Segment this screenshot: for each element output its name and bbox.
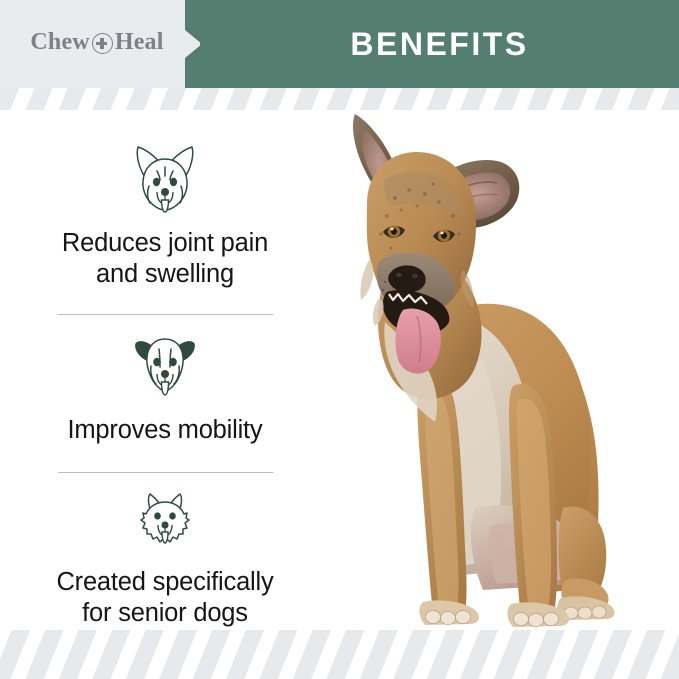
benefit-label-1: Reduces joint pain and swelling [0, 216, 330, 291]
circled-plus-icon [92, 33, 113, 54]
benefit-item-1: Reduces joint pain and swelling [0, 120, 330, 315]
diagonal-stripe-band-top [0, 88, 679, 110]
benefit-item-2: Improves mobility [0, 315, 330, 473]
diagonal-stripe-band-bottom [0, 630, 679, 679]
jack-russell-terrier-head-icon [0, 333, 330, 399]
brand-logo-word-chew: Chew [30, 29, 89, 56]
benefit-label-2: Improves mobility [0, 399, 330, 446]
brand-logo: Chew Heal [22, 29, 172, 56]
samoyed-dog-head-icon [0, 491, 330, 553]
corgi-dog-head-icon [0, 142, 330, 216]
header-banner: Chew Heal BENEFITS [0, 0, 679, 88]
benefit-item-3: Created specifically for senior dogs [0, 473, 330, 630]
benefits-list: Reduces joint pain and swelling [0, 120, 330, 630]
page-title: BENEFITS [200, 0, 679, 88]
product-benefits-infographic: Chew Heal BENEFITS [0, 0, 679, 679]
dog-photo [325, 110, 679, 630]
benefit-label-3: Created specifically for senior dogs [0, 553, 330, 630]
brand-logo-panel: Chew Heal [0, 0, 200, 88]
brand-logo-word-heal: Heal [115, 29, 164, 56]
